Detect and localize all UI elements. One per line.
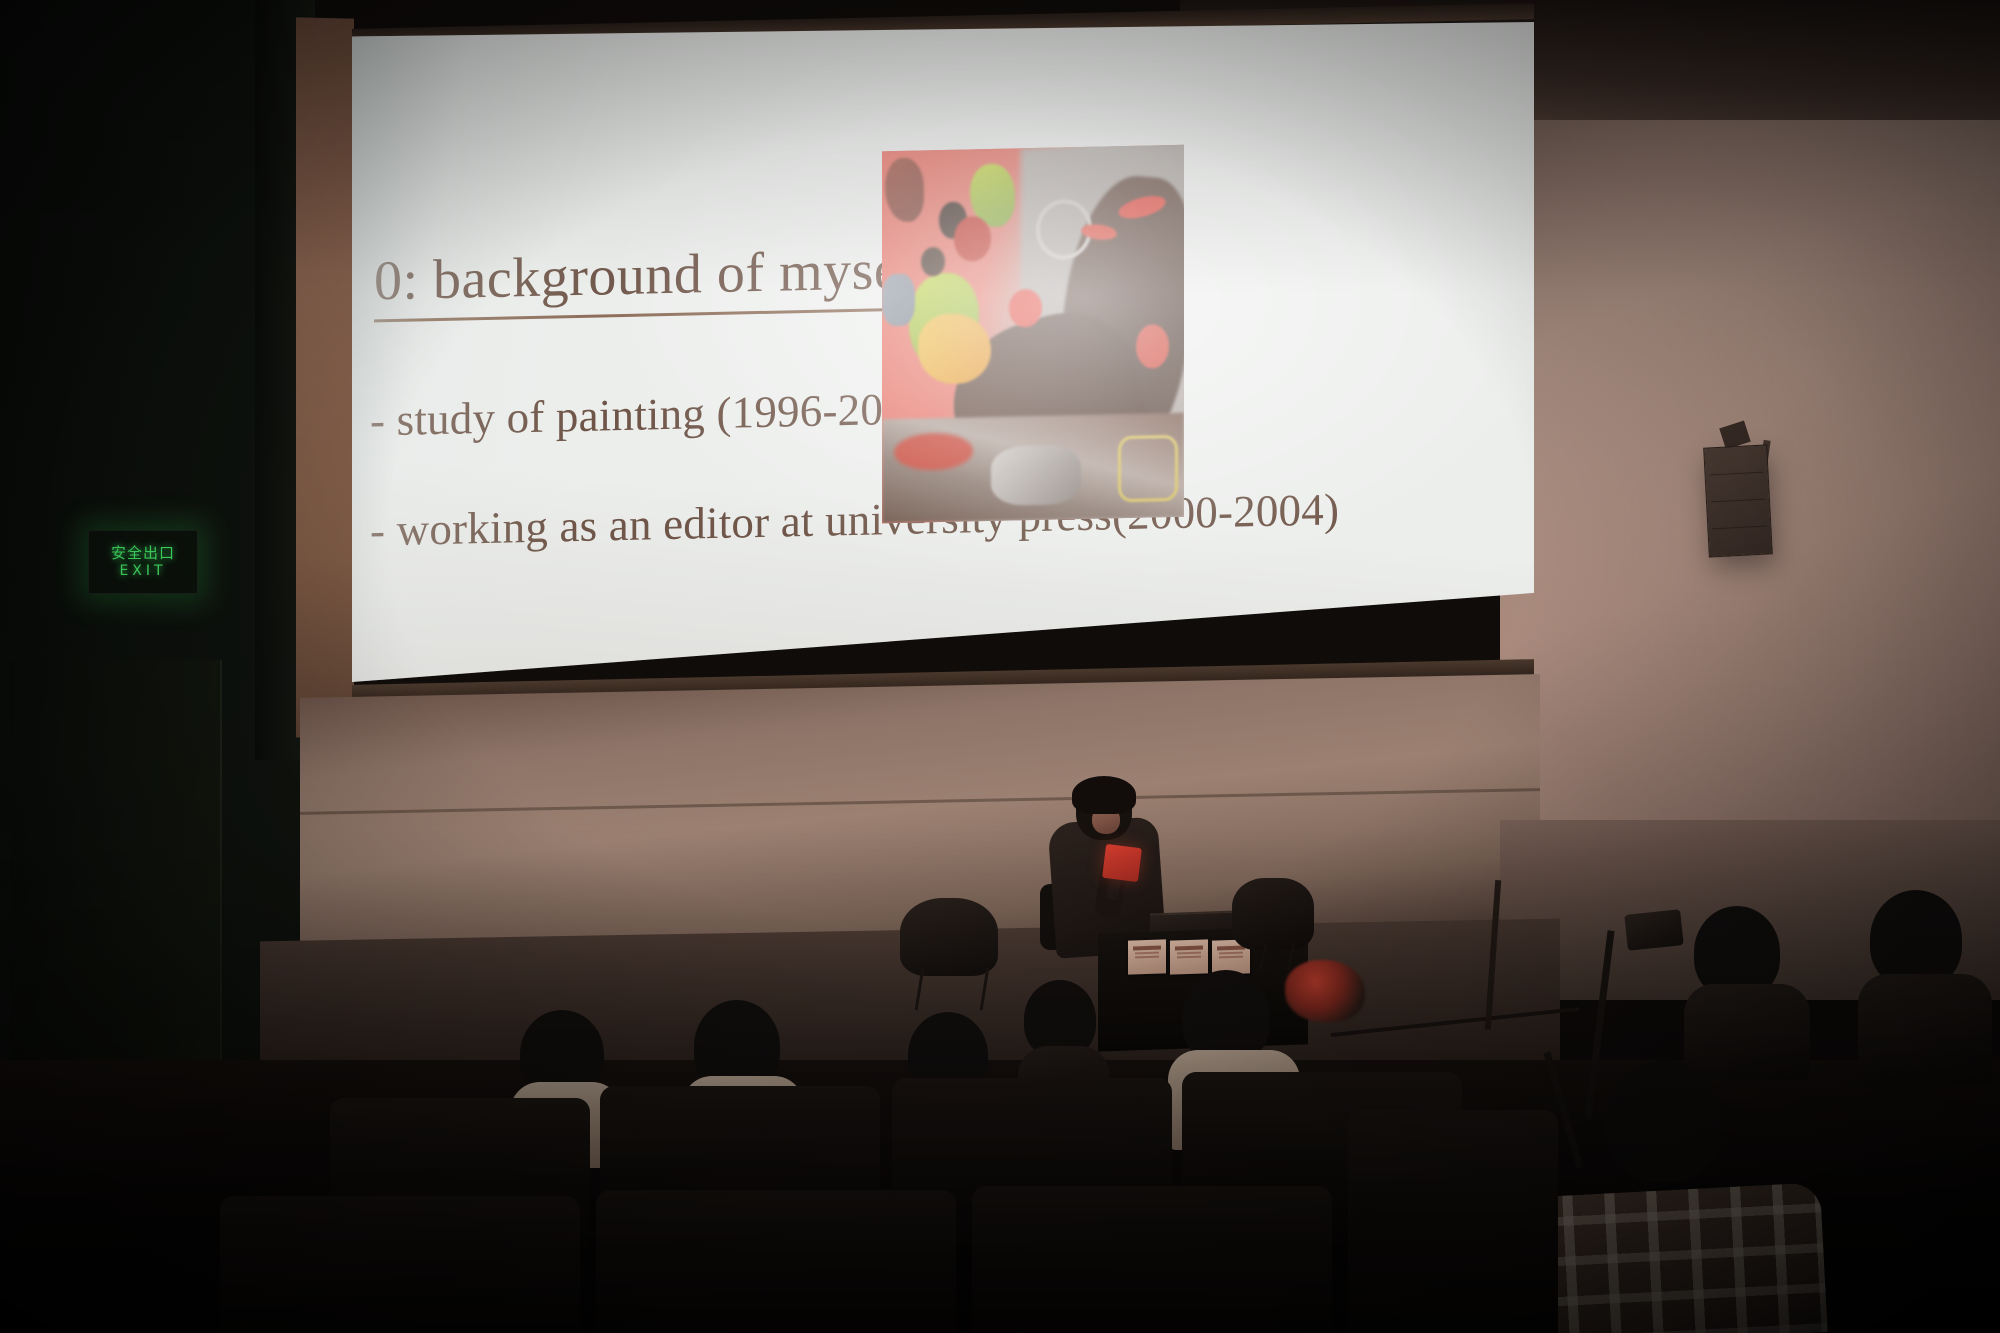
audience-torso <box>1684 984 1810 1080</box>
audience-plaid-coat <box>1520 1182 1827 1333</box>
screen-left-surround-column <box>296 17 354 738</box>
name-card <box>1128 939 1166 974</box>
empty-chair-right-legs <box>1259 944 1295 970</box>
flower-arrangement <box>1285 960 1365 1022</box>
empty-chair-left <box>900 898 998 976</box>
seat-row <box>1348 1110 1558 1333</box>
wall-loudspeaker <box>1703 444 1773 557</box>
seat-row <box>972 1186 1332 1333</box>
photo-scene: 0: background of myself - study of paint… <box>0 0 2000 1333</box>
name-card <box>1170 939 1208 974</box>
seat-row <box>596 1190 956 1333</box>
presenter-hair <box>1072 776 1136 814</box>
empty-chair-left-legs <box>915 968 990 1010</box>
audience-torso <box>1858 974 1992 1084</box>
microphone-flag <box>1102 844 1142 882</box>
empty-chair-right <box>1232 878 1314 950</box>
seat-row <box>220 1196 580 1333</box>
phone-camera <box>1624 909 1683 951</box>
exit-sign: 安全出口 EXIT <box>88 530 198 594</box>
screen-projection-glow <box>352 22 1534 682</box>
exit-sign-english-label: EXIT <box>119 564 166 578</box>
exit-sign-chinese-label: 安全出口 <box>111 546 175 561</box>
audience-head <box>1606 1060 1722 1182</box>
